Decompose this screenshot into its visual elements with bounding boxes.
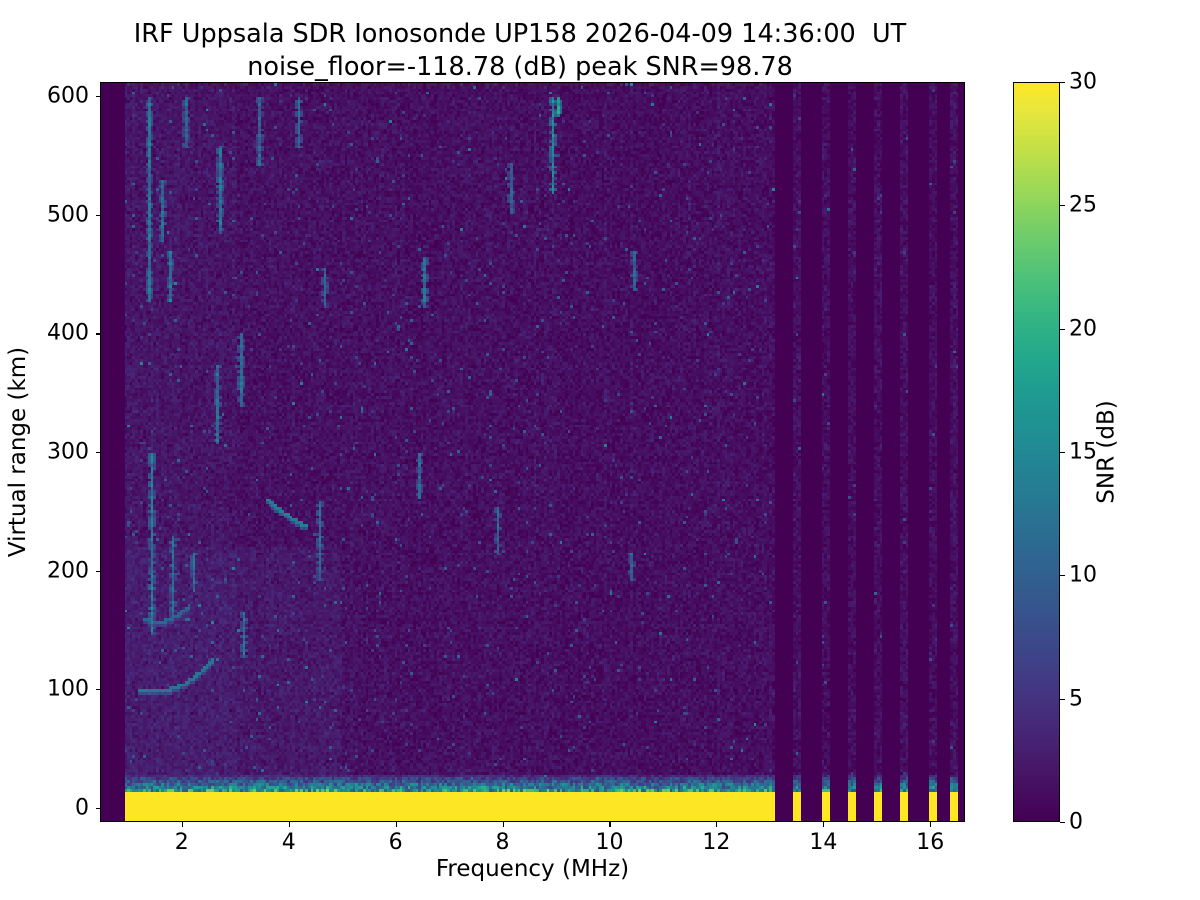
y-axis-label: Virtual range (km) bbox=[0, 82, 36, 822]
x-tick-label: 8 bbox=[496, 830, 510, 855]
colorbar-tick-mark bbox=[1060, 575, 1065, 576]
colorbar-tick-mark bbox=[1060, 822, 1065, 823]
colorbar-tick-mark bbox=[1060, 452, 1065, 453]
x-axis-label: Frequency (MHz) bbox=[100, 856, 965, 882]
y-tick-mark bbox=[96, 96, 101, 97]
y-tick-mark bbox=[96, 571, 101, 572]
x-tick-label: 12 bbox=[702, 830, 730, 855]
colorbar-wrap: 051015202530 bbox=[1013, 82, 1060, 822]
title-line-1: IRF Uppsala SDR Ionosonde UP158 2026-04-… bbox=[0, 18, 1040, 51]
colorbar-label: SNR (dB) bbox=[1092, 82, 1122, 822]
x-tick-mark bbox=[716, 822, 717, 827]
ionogram-figure: IRF Uppsala SDR Ionosonde UP158 2026-04-… bbox=[0, 0, 1200, 900]
colorbar bbox=[1013, 82, 1060, 822]
colorbar-tick-label: 5 bbox=[1069, 686, 1083, 711]
x-tick-label: 14 bbox=[809, 830, 837, 855]
x-tick-mark bbox=[396, 822, 397, 827]
colorbar-tick-mark bbox=[1060, 205, 1065, 206]
x-tick-label: 6 bbox=[389, 830, 403, 855]
x-tick-label: 2 bbox=[175, 830, 189, 855]
figure-title: IRF Uppsala SDR Ionosonde UP158 2026-04-… bbox=[0, 18, 1040, 83]
colorbar-tick-label: 0 bbox=[1069, 810, 1083, 835]
y-tick-mark bbox=[96, 215, 101, 216]
colorbar-label-text: SNR (dB) bbox=[1094, 400, 1120, 503]
x-tick-label: 4 bbox=[282, 830, 296, 855]
y-tick-mark bbox=[96, 333, 101, 334]
title-line-2: noise_floor=-118.78 (dB) peak SNR=98.78 bbox=[0, 51, 1040, 84]
y-tick-mark bbox=[96, 689, 101, 690]
x-tick-mark bbox=[823, 822, 824, 827]
colorbar-tick-mark bbox=[1060, 699, 1065, 700]
x-tick-mark bbox=[503, 822, 504, 827]
y-axis-label-text: Virtual range (km) bbox=[5, 347, 31, 557]
colorbar-tick-mark bbox=[1060, 329, 1065, 330]
plot-axes bbox=[100, 82, 965, 822]
x-tick-label: 10 bbox=[595, 830, 623, 855]
x-tick-mark bbox=[289, 822, 290, 827]
ionogram-heatmap bbox=[101, 83, 965, 822]
y-tick-mark bbox=[96, 452, 101, 453]
x-tick-mark bbox=[182, 822, 183, 827]
y-tick-mark bbox=[96, 808, 101, 809]
x-tick-mark bbox=[930, 822, 931, 827]
x-tick-label: 16 bbox=[916, 830, 944, 855]
x-tick-mark bbox=[609, 822, 610, 827]
colorbar-tick-mark bbox=[1060, 82, 1065, 83]
